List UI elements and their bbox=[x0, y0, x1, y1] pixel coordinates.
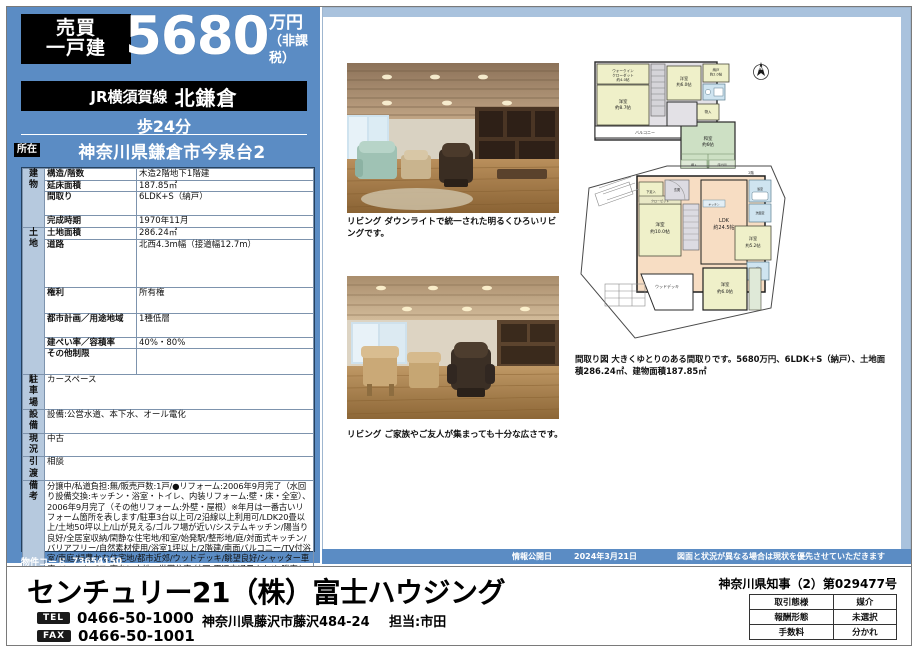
spec-value-coverage-ratio: 40%・80% bbox=[137, 337, 314, 349]
spec-value-parking: カースペース bbox=[45, 375, 314, 410]
address-tag: 所在 bbox=[14, 143, 40, 157]
svg-text:約8.7帖: 約8.7帖 bbox=[615, 104, 631, 111]
spec-value-layout: 6LDK+S（納戸） bbox=[137, 192, 314, 216]
price-header: 売買 一戸建 5680 万円 （非課税） bbox=[7, 7, 320, 69]
spec-label-other-limits: その他制限 bbox=[45, 349, 137, 375]
agency-fax-row: FAX 0466-50-1001 bbox=[37, 627, 195, 645]
svg-text:物入: 物入 bbox=[705, 109, 712, 114]
price-unit-group: 万円 （非課税） bbox=[269, 13, 320, 67]
rail-line-label: JR横須賀線 bbox=[90, 86, 167, 107]
svg-text:約6.0帖: 約6.0帖 bbox=[676, 81, 691, 88]
svg-text:洗面室: 洗面室 bbox=[755, 210, 764, 215]
spec-value-land-area: 286.24㎡ bbox=[137, 227, 314, 239]
table-row: 引渡 相談 bbox=[23, 457, 314, 481]
publish-info-bar: 情報公開日 2024年3月21日 図面と状況が異なる場合は現状を優先させていただ… bbox=[322, 549, 911, 564]
spec-value-completion: 1970年11月 bbox=[137, 216, 314, 228]
telephone-icon: TEL bbox=[37, 612, 70, 624]
spec-value-road: 北西4.3m幅（接道幅12.7m） bbox=[137, 239, 314, 287]
table-row: 道路 北西4.3m幅（接道幅12.7m） bbox=[23, 239, 314, 287]
table-row: 延床面積 187.85㎡ bbox=[23, 180, 314, 192]
address-label: 神奈川県鎌倉市今泉台2 bbox=[46, 138, 314, 163]
svg-text:バルコニー: バルコニー bbox=[635, 130, 655, 135]
spec-value-floor-area: 187.85㎡ bbox=[137, 180, 314, 192]
property-kind-badge: 売買 一戸建 bbox=[21, 14, 131, 64]
agency-address: 神奈川県藤沢市藤沢484-24 bbox=[202, 611, 370, 630]
table-row: 都市計画／用途地域 1種低層 bbox=[23, 313, 314, 337]
svg-text:ウォークイン: ウォークイン bbox=[612, 68, 634, 73]
property-flyer: 売買 一戸建 5680 万円 （非課税） JR横須賀線 北鎌倉 歩24分 所在 … bbox=[0, 0, 918, 652]
terms-key-1: 報酬形態 bbox=[750, 610, 834, 625]
svg-text:N: N bbox=[759, 66, 763, 72]
terms-value-1: 未選択 bbox=[833, 610, 896, 625]
spec-label-floor-area: 延床面積 bbox=[45, 180, 137, 192]
table-row: その他制限 bbox=[23, 349, 314, 375]
publish-date-label: 情報公開日 bbox=[512, 551, 552, 562]
spec-value-equipment: 設備:公営水道、本下水、オール電化 bbox=[45, 409, 314, 433]
terms-key-2: 手数料 bbox=[750, 625, 834, 640]
svg-text:約6帖: 約6帖 bbox=[702, 141, 714, 148]
svg-text:納戸: 納戸 bbox=[713, 67, 720, 72]
spec-value-delivery: 相談 bbox=[45, 457, 314, 481]
price-unit: 万円 bbox=[269, 13, 320, 34]
kind-label-line1: 売買 bbox=[56, 19, 96, 39]
floorplan-caption: 間取り図 大きくゆとりのある間取りです。5680万円、6LDK+S（納戸）、土地… bbox=[575, 354, 893, 378]
svg-text:約24.5帖: 約24.5帖 bbox=[713, 224, 734, 231]
media-panel: リビング ダウンライトで統一された明るくひろいリビングです。 bbox=[322, 7, 911, 563]
price-tax-note: （非課税） bbox=[269, 34, 320, 67]
spec-group-building: 建物 bbox=[23, 169, 45, 228]
station-label: 北鎌倉 bbox=[175, 82, 238, 111]
table-row: 土地 土地面積 286.24㎡ bbox=[23, 227, 314, 239]
svg-text:浴室: 浴室 bbox=[757, 186, 763, 191]
table-row: 建物 構造/階数 木造2階地下1階建 bbox=[23, 169, 314, 181]
living-room-photo-1 bbox=[347, 63, 559, 213]
spec-value-structure: 木造2階地下1階建 bbox=[137, 169, 314, 181]
svg-text:クローゼット: クローゼット bbox=[612, 73, 634, 78]
table-row: 駐車場 カースペース bbox=[23, 375, 314, 410]
svg-text:約5.2帖: 約5.2帖 bbox=[745, 242, 760, 249]
publish-date-value: 2024年3月21日 bbox=[574, 551, 637, 562]
spec-group-status: 現況 bbox=[23, 433, 45, 457]
table-row: 現況 中古 bbox=[23, 433, 314, 457]
spec-value-zoning: 1種低層 bbox=[137, 313, 314, 337]
svg-text:約10.0帖: 約10.0帖 bbox=[650, 228, 670, 235]
agency-footer: センチュリー21（株）富士ハウジング TEL 0466-50-1000 FAX … bbox=[7, 566, 911, 645]
spec-group-land: 土地 bbox=[23, 227, 45, 374]
floorplan-diagram: ウォークイン クローゼット 約4.0帖 洋室 約8.7帖 洋室 bbox=[575, 48, 885, 348]
kind-label-line2: 一戸建 bbox=[46, 39, 106, 59]
svg-text:2階: 2階 bbox=[748, 170, 754, 175]
svg-text:約6.0帖: 約6.0帖 bbox=[717, 288, 733, 295]
svg-text:洋室: 洋室 bbox=[655, 221, 665, 228]
address-row: 所在 神奈川県鎌倉市今泉台2 bbox=[14, 137, 314, 163]
svg-text:和室: 和室 bbox=[704, 135, 713, 142]
svg-text:玄関: 玄関 bbox=[674, 187, 680, 192]
walk-time-label: 歩24分 bbox=[21, 113, 307, 135]
panel-right-accent bbox=[901, 8, 910, 562]
terms-value-0: 媒介 bbox=[833, 595, 896, 610]
publish-notice: 図面と状況が異なる場合は現状を優先させていただきます bbox=[677, 551, 885, 562]
table-row: 建ぺい率／容積率 40%・80% bbox=[23, 337, 314, 349]
photo-caption-1: リビング ダウンライトで統一された明るくひろいリビングです。 bbox=[347, 217, 563, 240]
svg-text:洋室: 洋室 bbox=[749, 235, 757, 242]
table-row: 取引態様 媒介 bbox=[750, 595, 897, 610]
spec-label-road: 道路 bbox=[45, 239, 137, 287]
table-row: 完成時期 1970年11月 bbox=[23, 216, 314, 228]
spec-group-parking: 駐車場 bbox=[23, 375, 45, 410]
agency-tel-number: 0466-50-1000 bbox=[77, 609, 194, 627]
panel-top-accent bbox=[323, 8, 910, 17]
terms-value-2: 分かれ bbox=[833, 625, 896, 640]
property-code-value: 73654150 bbox=[72, 557, 122, 567]
svg-text:約2.0帖: 約2.0帖 bbox=[710, 72, 723, 77]
spec-label-zoning: 都市計画／用途地域 bbox=[45, 313, 137, 337]
table-row: 間取り 6LDK+S（納戸） bbox=[23, 192, 314, 216]
agency-staff: 担当:市田 bbox=[389, 611, 446, 630]
agency-name: センチュリー21（株）富士ハウジング bbox=[27, 571, 505, 611]
agency-license-number: 神奈川県知事（2）第029477号 bbox=[719, 575, 897, 592]
spec-label-rights: 権利 bbox=[45, 287, 137, 313]
spec-value-other-limits bbox=[137, 349, 314, 375]
agency-fax-number: 0466-50-1001 bbox=[78, 627, 195, 645]
svg-text:洋室: 洋室 bbox=[721, 281, 730, 288]
left-info-column: 売買 一戸建 5680 万円 （非課税） JR横須賀線 北鎌倉 歩24分 所在 … bbox=[7, 7, 320, 563]
price-value: 5680 bbox=[125, 7, 269, 67]
table-row: 報酬形態 未選択 bbox=[750, 610, 897, 625]
svg-text:LDK: LDK bbox=[719, 218, 730, 224]
svg-text:ウッドデッキ: ウッドデッキ bbox=[655, 283, 679, 289]
spec-group-equipment: 設備 bbox=[23, 409, 45, 433]
svg-text:下足入: 下足入 bbox=[646, 190, 656, 194]
fax-icon: FAX bbox=[37, 630, 71, 642]
spec-table-container: 建物 構造/階数 木造2階地下1階建 延床面積 187.85㎡ 間取り 6LDK… bbox=[21, 167, 315, 552]
station-bar: JR横須賀線 北鎌倉 bbox=[21, 81, 307, 111]
spec-group-delivery: 引渡 bbox=[23, 457, 45, 481]
terms-key-0: 取引態様 bbox=[750, 595, 834, 610]
table-row: 手数料 分かれ bbox=[750, 625, 897, 640]
svg-text:洋室: 洋室 bbox=[680, 75, 688, 82]
photo-caption-2: リビング ご家族やご友人が集まっても十分な広さです。 bbox=[347, 430, 563, 442]
spec-label-completion: 完成時期 bbox=[45, 216, 137, 228]
agency-tel-row: TEL 0466-50-1000 bbox=[37, 609, 194, 627]
spec-label-coverage-ratio: 建ぺい率／容積率 bbox=[45, 337, 137, 349]
svg-text:約4.0帖: 約4.0帖 bbox=[617, 77, 630, 82]
svg-text:洋室: 洋室 bbox=[619, 98, 628, 105]
spec-label-land-area: 土地面積 bbox=[45, 227, 137, 239]
table-row: 権利 所有権 bbox=[23, 287, 314, 313]
living-room-photo-2 bbox=[347, 276, 559, 419]
spec-label-structure: 構造/階数 bbox=[45, 169, 137, 181]
spec-label-layout: 間取り bbox=[45, 192, 137, 216]
transaction-terms-table: 取引態様 媒介 報酬形態 未選択 手数料 分かれ bbox=[749, 594, 897, 640]
spec-table: 建物 構造/階数 木造2階地下1階建 延床面積 187.85㎡ 間取り 6LDK… bbox=[22, 168, 314, 585]
spec-value-status: 中古 bbox=[45, 433, 314, 457]
svg-text:キッチン: キッチン bbox=[708, 203, 719, 207]
table-row: 設備 設備:公営水道、本下水、オール電化 bbox=[23, 409, 314, 433]
spec-value-rights: 所有権 bbox=[137, 287, 314, 313]
